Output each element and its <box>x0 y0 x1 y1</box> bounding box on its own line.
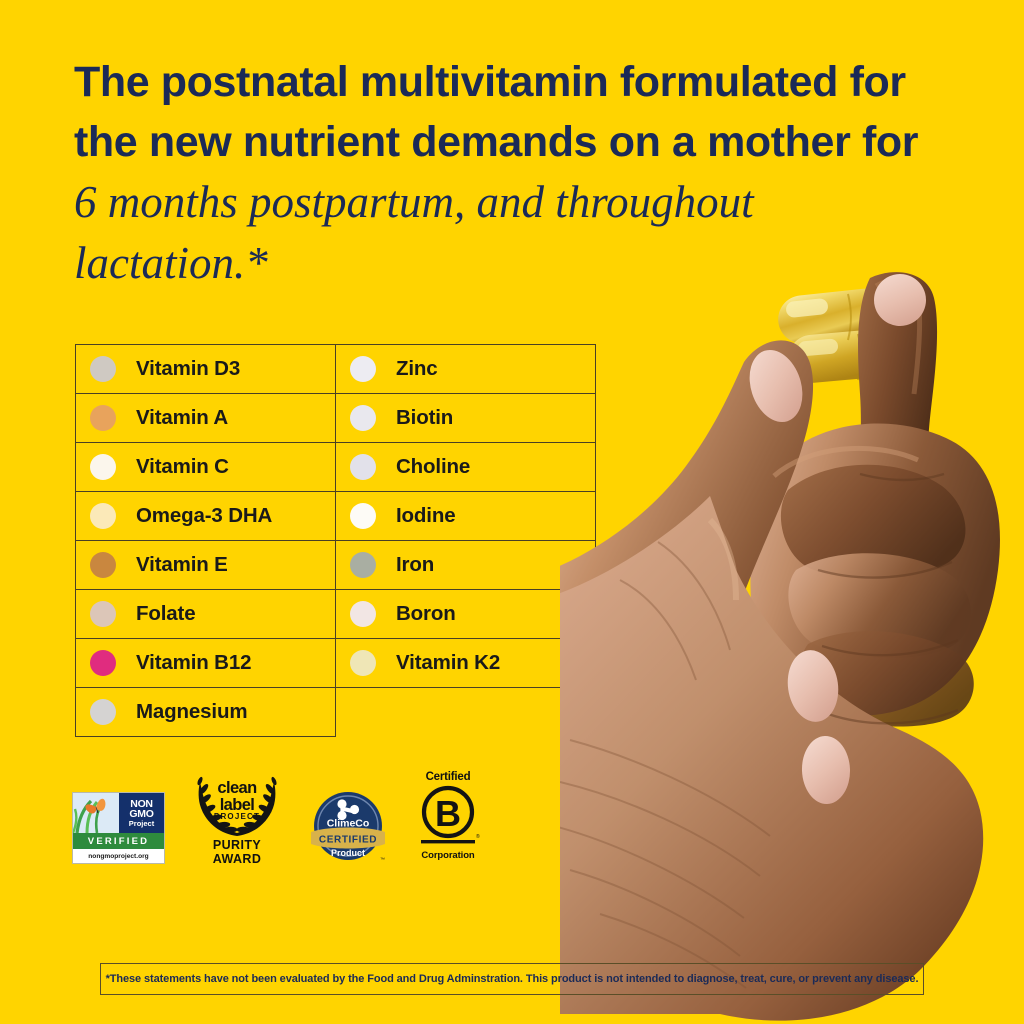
non-gmo-line3: Project <box>129 820 154 828</box>
nutrient-dot-icon <box>350 356 376 382</box>
nutrient-dot-icon <box>90 405 116 431</box>
clean-label-line2: label <box>191 797 283 814</box>
nutrient-label: Biotin <box>396 406 453 430</box>
nutrient-dot-icon <box>350 650 376 676</box>
nutrient-dot-icon <box>90 503 116 529</box>
nutrient-label: Folate <box>136 602 195 626</box>
svg-text:B: B <box>435 793 461 834</box>
climeco-certified-product-badge-icon: ClimeCo CERTIFIED Product ™ <box>309 790 387 864</box>
clean-label-project-purity-award-badge-icon: clean label PROJECT PURITY AWARD <box>191 776 283 864</box>
b-corp-top-label: Certified <box>413 772 483 784</box>
svg-text:™: ™ <box>380 857 385 863</box>
nutrient-label: Vitamin K2 <box>396 651 500 675</box>
nutrient-label: Zinc <box>396 357 438 381</box>
ring-finger <box>788 553 970 658</box>
table-row: Vitamin E Iron <box>76 541 596 590</box>
nutrient-cell-vitamin-a: Vitamin A <box>76 394 336 443</box>
nutrient-label: Iron <box>396 553 434 577</box>
nutrient-label: Choline <box>396 455 470 479</box>
non-gmo-url-label: nongmoproject.org <box>73 849 164 863</box>
table-row: Vitamin A Biotin <box>76 394 596 443</box>
nutrient-list-table: Vitamin D3 Zinc Vitamin A <box>75 344 596 737</box>
clean-label-line1: clean <box>191 780 283 797</box>
nutrient-cell-zinc: Zinc <box>336 345 596 394</box>
index-finger <box>858 272 937 478</box>
b-corp-bottom-label: Corporation <box>413 851 483 861</box>
butterfly-grass-icon <box>73 793 119 833</box>
ring-finger-nail <box>801 735 851 805</box>
nutrient-dot-icon <box>350 552 376 578</box>
nutrient-label: Vitamin B12 <box>136 651 251 675</box>
middle-finger <box>781 465 966 579</box>
softgel-capsules-icon <box>776 286 902 385</box>
nutrient-cell-omega-3-dha: Omega-3 DHA <box>76 492 336 541</box>
nutrient-cell-choline: Choline <box>336 443 596 492</box>
hand-back <box>750 424 1000 716</box>
nutrient-label: Vitamin D3 <box>136 357 240 381</box>
nutrient-cell-magnesium: Magnesium <box>76 688 336 737</box>
nutrient-cell-iodine: Iodine <box>336 492 596 541</box>
nutrient-dot-icon <box>90 454 116 480</box>
middle-finger-nail <box>783 647 843 725</box>
nutrient-label: Vitamin C <box>136 455 229 479</box>
nutrient-cell-iron: Iron <box>336 541 596 590</box>
nutrient-cell-vitamin-e: Vitamin E <box>76 541 336 590</box>
pinky-finger <box>801 631 974 726</box>
thumb-nail <box>741 343 811 429</box>
table-row: Omega-3 DHA Iodine <box>76 492 596 541</box>
headline-italic: 6 months postpartum, and throughout lact… <box>74 177 754 288</box>
promo-graphic: The postnatal multivitamin formulated fo… <box>0 0 1024 1024</box>
purity-award-line1: PURITY <box>191 838 283 852</box>
nutrient-dot-icon <box>350 503 376 529</box>
svg-text:®: ® <box>476 833 480 840</box>
disclaimer-text: *These statements have not been evaluate… <box>106 973 919 985</box>
nutrient-dot-icon <box>90 552 116 578</box>
hand-holding-capsules-photo <box>560 270 1024 1024</box>
svg-text:Product: Product <box>331 848 365 858</box>
table-row: Vitamin C Choline <box>76 443 596 492</box>
table-row: Vitamin B12 Vitamin K2 <box>76 639 596 688</box>
nutrient-dot-icon <box>90 699 116 725</box>
thumb <box>560 340 813 762</box>
table-row: Vitamin D3 Zinc <box>76 345 596 394</box>
palm <box>560 496 983 1021</box>
disclaimer-box: *These statements have not been evaluate… <box>100 963 924 995</box>
nutrient-label: Vitamin E <box>136 553 228 577</box>
certified-b-corporation-badge-icon: Certified B ® Corporation <box>413 772 483 864</box>
nutrient-dot-icon <box>350 601 376 627</box>
nutrient-dot-icon <box>90 650 116 676</box>
nutrient-cell-vitamin-b12: Vitamin B12 <box>76 639 336 688</box>
nutrient-label: Vitamin A <box>136 406 228 430</box>
knuckle-creases <box>818 474 958 723</box>
nutrient-cell-vitamin-c: Vitamin C <box>76 443 336 492</box>
nutrient-cell-vitamin-d3: Vitamin D3 <box>76 345 336 394</box>
nutrient-cell-empty <box>336 688 596 737</box>
nutrient-dot-icon <box>90 601 116 627</box>
non-gmo-project-verified-badge-icon: NON GMO Project VERIFIED nongmoproject.o… <box>72 792 165 864</box>
nutrient-cell-biotin: Biotin <box>336 394 596 443</box>
headline-bold: The postnatal multivitamin formulated fo… <box>74 58 918 166</box>
nutrient-label: Magnesium <box>136 700 247 724</box>
nutrient-dot-icon <box>90 356 116 382</box>
certification-badges: NON GMO Project VERIFIED nongmoproject.o… <box>72 772 483 864</box>
clean-label-line3: PROJECT <box>191 813 283 821</box>
page-headline: The postnatal multivitamin formulated fo… <box>74 52 934 294</box>
svg-text:CERTIFIED: CERTIFIED <box>319 835 377 846</box>
purity-award-line2: AWARD <box>191 852 283 866</box>
table-row: Magnesium <box>76 688 596 737</box>
nutrient-label: Omega-3 DHA <box>136 504 272 528</box>
nutrient-cell-boron: Boron <box>336 590 596 639</box>
nutrient-cell-folate: Folate <box>76 590 336 639</box>
nutrient-label: Iodine <box>396 504 455 528</box>
nutrient-dot-icon <box>350 454 376 480</box>
nutrient-label: Boron <box>396 602 456 626</box>
non-gmo-verified-label: VERIFIED <box>73 833 164 849</box>
b-corp-circle-icon: B ® <box>413 784 483 846</box>
nutrient-dot-icon <box>350 405 376 431</box>
table-row: Folate Boron <box>76 590 596 639</box>
nutrient-cell-vitamin-k2: Vitamin K2 <box>336 639 596 688</box>
